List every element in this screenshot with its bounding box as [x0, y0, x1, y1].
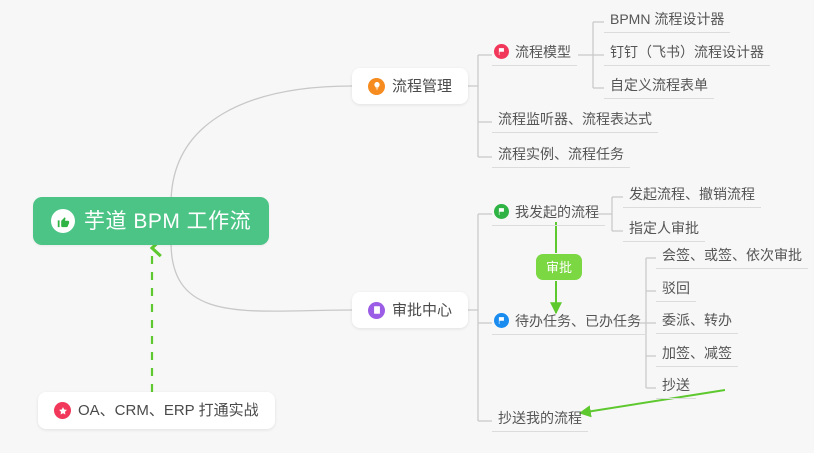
lightbulb-icon	[368, 78, 385, 95]
thumbs-up-icon	[51, 209, 75, 233]
flag-icon	[494, 204, 509, 219]
link-root-to-process-management	[171, 86, 352, 204]
branch-approval-center[interactable]: 审批中心	[352, 292, 468, 328]
node-my-initiated-process-label: 我发起的流程	[515, 205, 599, 219]
node-start-cancel-process[interactable]: 发起流程、撤销流程	[623, 187, 761, 208]
node-designated-approver-label: 指定人审批	[629, 221, 699, 235]
annotation-arrow-cc-to-ccme	[580, 390, 725, 413]
approval-pill-label: 审批	[546, 261, 572, 274]
node-start-cancel-process-label: 发起流程、撤销流程	[629, 187, 755, 201]
node-custom-process-form[interactable]: 自定义流程表单	[604, 78, 714, 99]
node-designated-approver[interactable]: 指定人审批	[623, 221, 705, 242]
branch-approval-center-label: 审批中心	[392, 303, 452, 318]
node-dingtalk-feishu-designer-label: 钉钉（飞书）流程设计器	[610, 45, 764, 59]
root-node[interactable]: 芋道 BPM 工作流	[33, 197, 269, 245]
node-cc[interactable]: 抄送	[656, 378, 696, 399]
flag-icon	[494, 44, 509, 59]
node-countersign-orsign-sequential[interactable]: 会签、或签、依次审批	[656, 248, 808, 269]
node-delegate-transfer-label: 委派、转办	[662, 313, 732, 327]
mindmap-canvas: 芋道 BPM 工作流 流程管理 流程模型 BPMN 流程设计器 钉钉（飞书）流程…	[0, 0, 814, 453]
node-bpmn-designer-label: BPMN 流程设计器	[610, 12, 724, 26]
node-process-model[interactable]: 流程模型	[492, 44, 577, 66]
branch-process-management-label: 流程管理	[392, 79, 452, 94]
approval-pill[interactable]: 审批	[536, 254, 582, 280]
node-dingtalk-feishu-designer[interactable]: 钉钉（飞书）流程设计器	[604, 45, 770, 66]
node-bpmn-designer[interactable]: BPMN 流程设计器	[604, 12, 730, 33]
node-todo-done-tasks[interactable]: 待办任务、已办任务	[492, 313, 647, 335]
node-cc-label: 抄送	[662, 378, 690, 392]
link-root-to-approval-center	[171, 242, 352, 311]
node-reject[interactable]: 驳回	[656, 281, 696, 302]
node-add-remove-sign[interactable]: 加签、减签	[656, 346, 738, 367]
star-icon	[54, 402, 71, 419]
branch-process-management[interactable]: 流程管理	[352, 68, 468, 104]
root-label: 芋道 BPM 工作流	[84, 211, 251, 232]
integration-note-card[interactable]: OA、CRM、ERP 打通实战	[38, 392, 275, 429]
flag-icon	[494, 313, 509, 328]
node-process-instance-task-label: 流程实例、流程任务	[498, 147, 624, 161]
node-add-remove-sign-label: 加签、减签	[662, 346, 732, 360]
node-cc-to-me-process[interactable]: 抄送我的流程	[492, 411, 588, 432]
node-process-listener-expression[interactable]: 流程监听器、流程表达式	[492, 112, 658, 133]
node-todo-done-tasks-label: 待办任务、已办任务	[515, 314, 641, 328]
node-process-instance-task[interactable]: 流程实例、流程任务	[492, 147, 630, 168]
node-countersign-orsign-sequential-label: 会签、或签、依次审批	[662, 248, 802, 262]
node-reject-label: 驳回	[662, 281, 690, 295]
node-process-listener-expression-label: 流程监听器、流程表达式	[498, 112, 652, 126]
clipboard-icon	[368, 302, 385, 319]
node-cc-to-me-process-label: 抄送我的流程	[498, 411, 582, 425]
node-process-model-label: 流程模型	[515, 45, 571, 59]
integration-note-label: OA、CRM、ERP 打通实战	[78, 403, 259, 418]
node-my-initiated-process[interactable]: 我发起的流程	[492, 204, 605, 226]
node-custom-process-form-label: 自定义流程表单	[610, 78, 708, 92]
node-delegate-transfer[interactable]: 委派、转办	[656, 313, 738, 334]
